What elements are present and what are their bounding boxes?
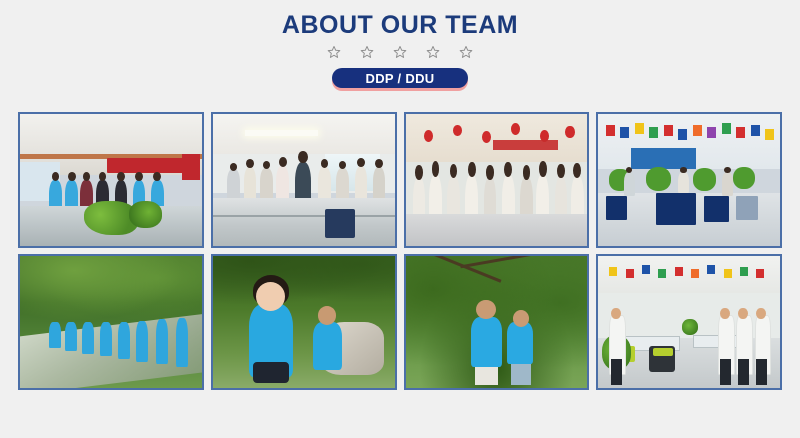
photo-forest-pair-image bbox=[406, 256, 588, 388]
photo-hiking-team-image bbox=[213, 256, 395, 388]
gallery-photo-8[interactable]: Office team clapping together beside wor… bbox=[596, 254, 782, 390]
star-outline-icon bbox=[459, 45, 473, 59]
gallery-photo-3[interactable]: Rows of employees standing at attention … bbox=[404, 112, 590, 248]
gallery-photo-2[interactable]: Staff applauding during a meeting in an … bbox=[211, 112, 397, 248]
gallery-photo-1[interactable]: Employees in blue uniform shirts at a co… bbox=[18, 112, 204, 248]
rating-stars bbox=[0, 43, 800, 61]
photo-office-applause-image bbox=[598, 256, 780, 388]
gallery-photo-6[interactable]: Smiling woman and colleagues in blue t-s… bbox=[211, 254, 397, 390]
gallery-photo-7[interactable]: Two colleagues in blue t-shirts posing a… bbox=[404, 254, 590, 390]
photo-production-line-image bbox=[406, 114, 588, 246]
shipping-terms-badge[interactable]: DDP / DDU bbox=[332, 68, 468, 88]
photo-sales-office-image bbox=[598, 114, 780, 246]
gallery-photo-5[interactable]: Team in blue t-shirts crossing a rope su… bbox=[18, 254, 204, 390]
star-outline-icon bbox=[327, 45, 341, 59]
star-outline-icon bbox=[393, 45, 407, 59]
gallery-photo-4[interactable]: Sales office with international flags ha… bbox=[596, 112, 782, 248]
team-photo-gallery: Employees in blue uniform shirts at a co… bbox=[18, 112, 782, 390]
star-outline-icon bbox=[426, 45, 440, 59]
photo-rope-bridge-image bbox=[20, 256, 202, 388]
about-our-team-section: ABOUT OUR TEAM bbox=[0, 0, 800, 438]
badge-container: DDP / DDU bbox=[0, 68, 800, 94]
photo-canteen-image bbox=[20, 114, 202, 246]
section-header: ABOUT OUR TEAM bbox=[0, 0, 800, 94]
photo-office-meeting-image bbox=[213, 114, 395, 246]
star-outline-icon bbox=[360, 45, 374, 59]
page-title: ABOUT OUR TEAM bbox=[0, 10, 800, 40]
